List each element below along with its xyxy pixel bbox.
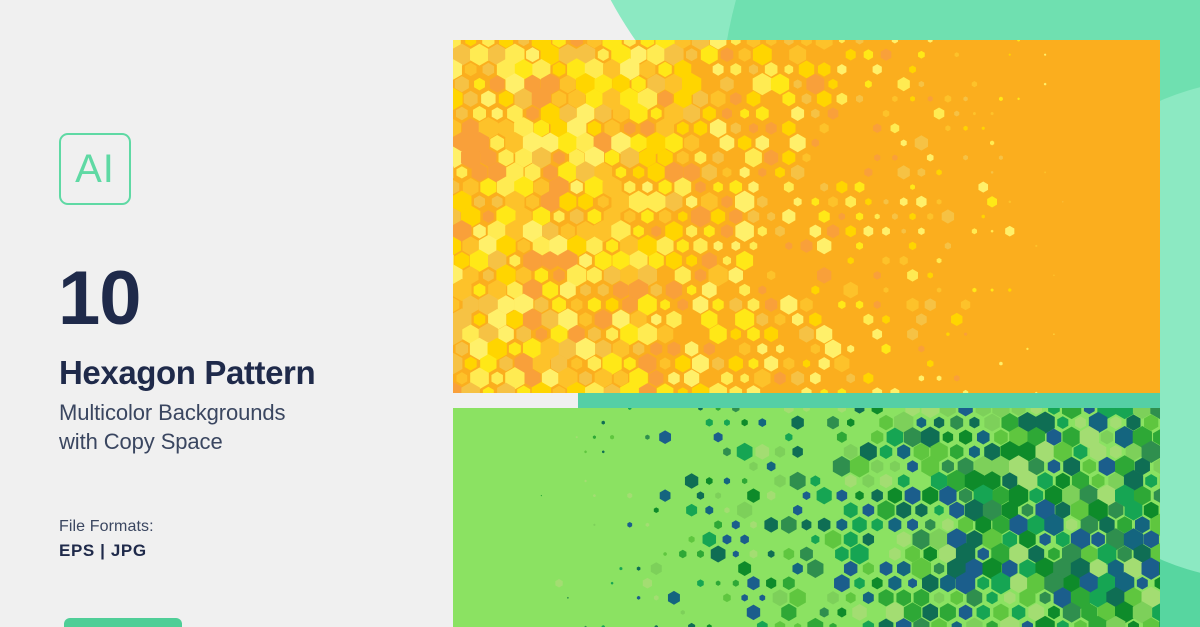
page-title: Hexagon Pattern [59, 355, 315, 391]
panel-gap-gray-notch [453, 393, 578, 408]
ai-file-badge-icon: AI [59, 133, 131, 205]
poster-canvas: AI 10 Hexagon Pattern Multicolor Backgro… [0, 0, 1200, 627]
green-hexagon-pattern-preview[interactable] [453, 408, 1160, 627]
cta-button[interactable] [64, 618, 182, 627]
orange-hexagon-canvas [453, 40, 1160, 393]
page-subtitle-line-2: with Copy Space [59, 427, 285, 456]
panel-gap-teal-strip [578, 393, 1160, 408]
info-sidebar: AI 10 Hexagon Pattern Multicolor Backgro… [0, 0, 453, 627]
ai-badge-label: AI [75, 149, 115, 189]
file-formats-value: EPS | JPG [59, 541, 147, 561]
item-count: 10 [58, 261, 141, 337]
page-subtitle-line-1: Multicolor Backgrounds [59, 398, 285, 427]
file-formats-label: File Formats: [59, 518, 154, 536]
page-subtitle: Multicolor Backgrounds with Copy Space [59, 398, 285, 456]
orange-hexagon-pattern-preview[interactable] [453, 40, 1160, 393]
green-hexagon-canvas [453, 408, 1160, 627]
